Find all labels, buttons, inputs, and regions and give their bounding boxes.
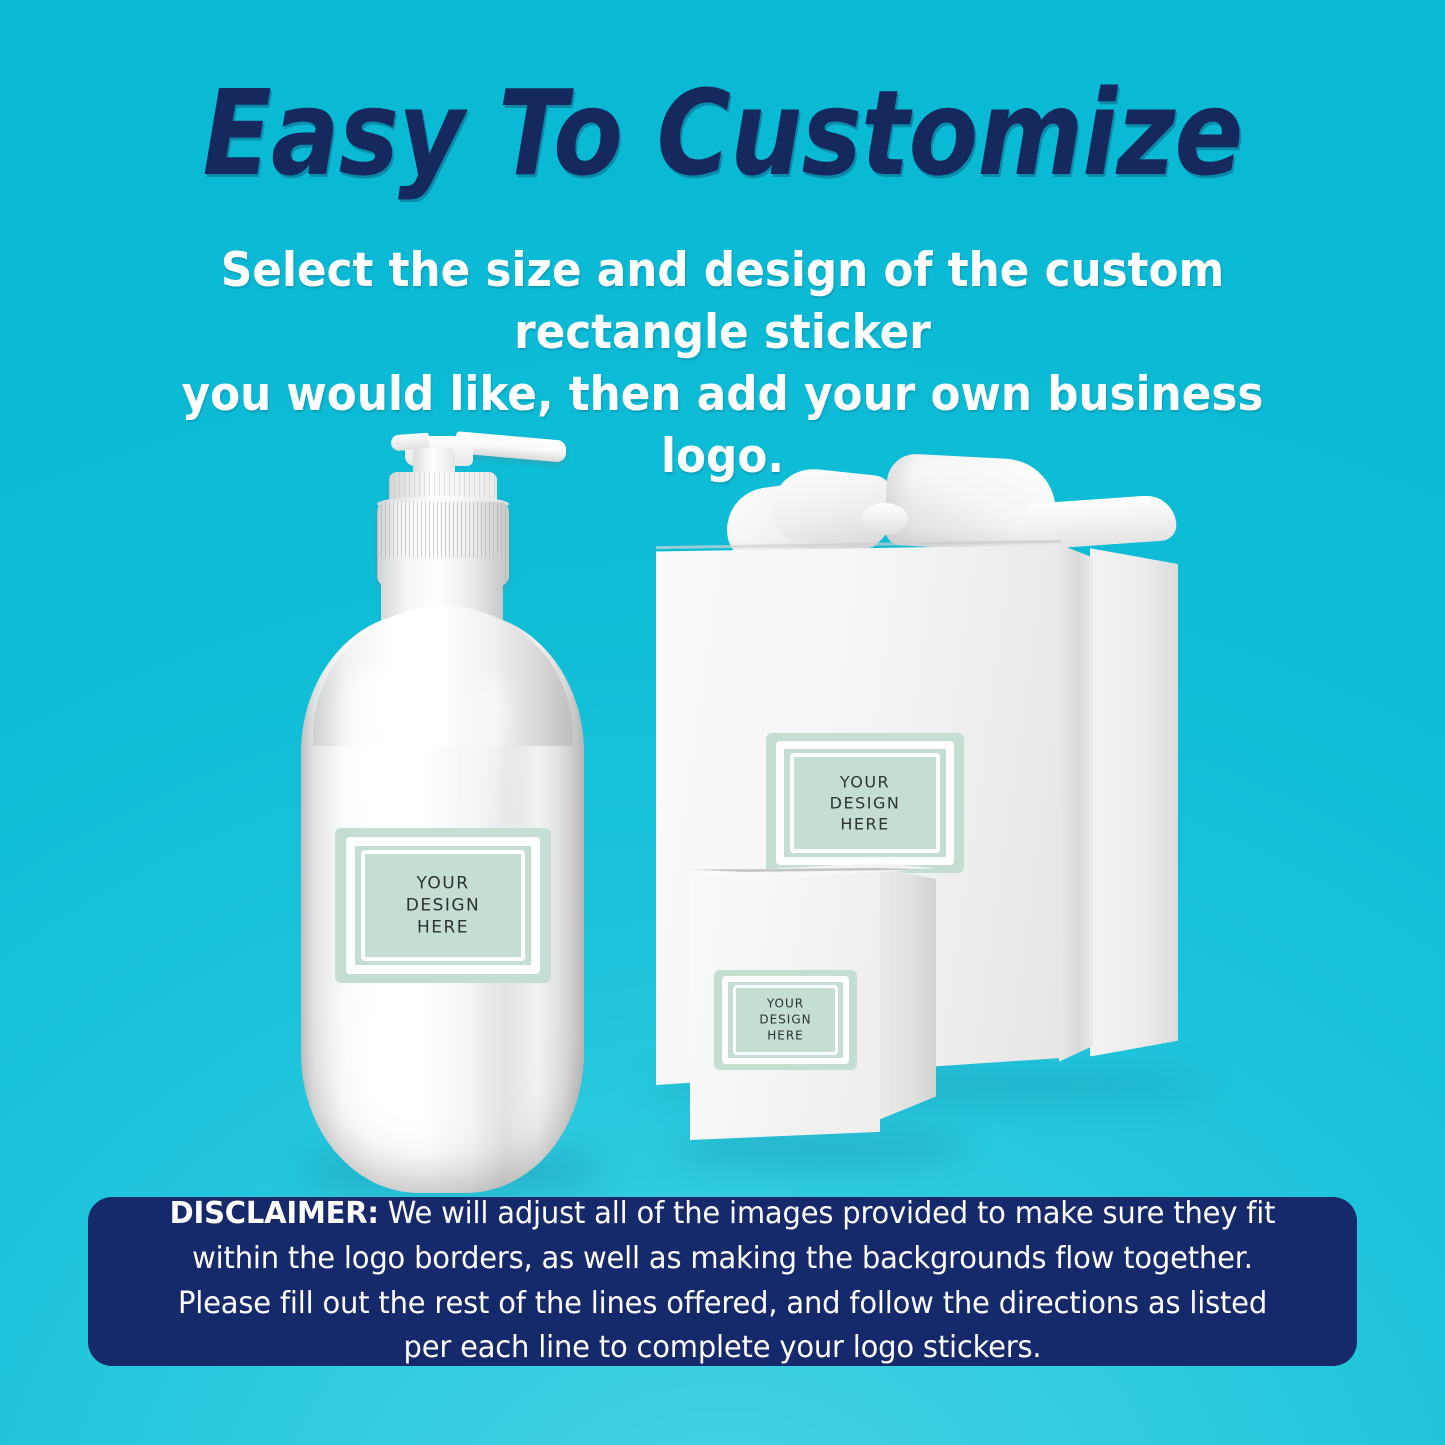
gift-box-back-panel: [1090, 543, 1178, 1067]
sticker-text-line-3: HERE: [766, 814, 964, 835]
sticker-text-line-3: HERE: [335, 917, 551, 939]
sticker-gift-box[interactable]: YOUR DESIGN HERE: [766, 733, 964, 873]
gift-box-side-panel: [1059, 539, 1093, 1067]
sticker-text-line-3: HERE: [714, 1028, 857, 1044]
sticker-placeholder-text: YOUR DESIGN HERE: [335, 872, 551, 939]
sticker-placeholder-text: YOUR DESIGN HERE: [766, 771, 964, 834]
sticker-text-line-2: DESIGN: [714, 1012, 857, 1028]
sticker-text-line-1: YOUR: [766, 771, 964, 792]
disclaimer-text: DISCLAIMER: We will adjust all of the im…: [120, 1192, 1326, 1371]
small-box: YOUR DESIGN HERE: [690, 860, 950, 1150]
sticker-bottle[interactable]: YOUR DESIGN HERE: [335, 828, 551, 983]
sticker-text-line-1: YOUR: [714, 996, 857, 1012]
page-title: Easy To Customize: [101, 74, 1344, 192]
disclaimer-label: DISCLAIMER:: [170, 1196, 379, 1231]
subtitle-line-1: Select the size and design of the custom…: [125, 240, 1320, 364]
product-scene: YOUR DESIGN HERE YOUR DESIGN HERE: [0, 380, 1445, 1180]
disclaimer-banner: DISCLAIMER: We will adjust all of the im…: [88, 1197, 1357, 1366]
sticker-text-line-1: YOUR: [335, 872, 551, 894]
bow-knot: [862, 503, 908, 535]
sticker-text-line-2: DESIGN: [766, 792, 964, 813]
pump-bottle: YOUR DESIGN HERE: [293, 430, 593, 1200]
sticker-small-box[interactable]: YOUR DESIGN HERE: [714, 970, 857, 1070]
sticker-placeholder-text: YOUR DESIGN HERE: [714, 996, 857, 1043]
promo-banner: Easy To Customize Select the size and de…: [0, 0, 1445, 1445]
small-box-side-panel: [878, 866, 936, 1128]
sticker-text-line-2: DESIGN: [335, 894, 551, 916]
